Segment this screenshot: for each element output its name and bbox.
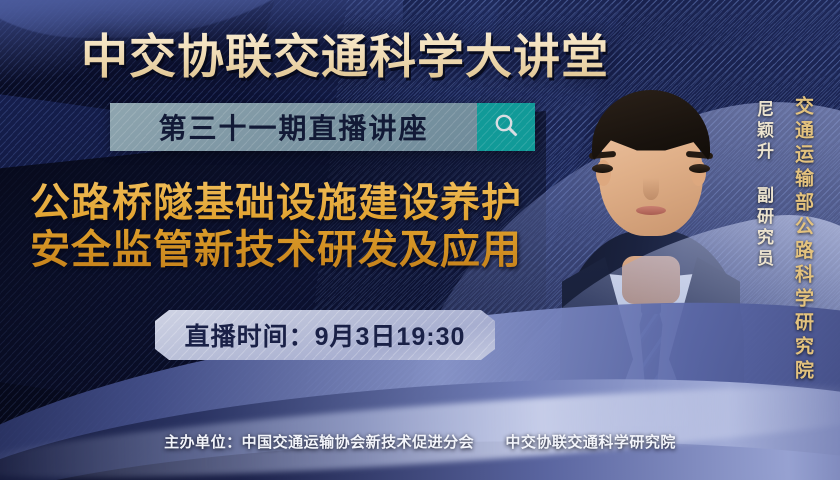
episode-label-field: 第三十一期直播讲座 [110, 103, 477, 151]
live-time-badge: 直播时间：9月3日19:30 [155, 310, 495, 360]
speaker-eye-left [592, 164, 613, 173]
live-time-text: 直播时间：9月3日19:30 [185, 317, 466, 353]
footer-co-organizer: 中交协联交通科学研究院 [505, 434, 676, 451]
footer-organizer: 主办单位：中国交通运输协会新技术促进分会 [164, 434, 474, 451]
lecture-subject-line-1: 公路桥隧基础设施建设养护 [30, 180, 590, 227]
lecture-subject-line-2: 安全监管新技术研发及应用 [30, 227, 590, 274]
speaker-nose [643, 178, 659, 200]
episode-label: 第三十一期直播讲座 [158, 107, 428, 147]
footer-organizers: 主办单位：中国交通运输协会新技术促进分会 中交协联交通科学研究院 [0, 431, 840, 452]
page-title: 中交协联交通科学大讲堂 [0, 18, 840, 87]
lecture-subject: 公路桥隧基础设施建设养护 安全监管新技术研发及应用 [30, 180, 590, 274]
live-lecture-poster: 中交协联交通科学大讲堂 第三十一期直播讲座 公路桥隧基础设施建设养护 安全监管新… [0, 0, 840, 480]
speaker-eye-right [689, 164, 710, 173]
speaker-mouth [636, 206, 666, 215]
search-icon [493, 112, 519, 143]
episode-search-bar[interactable]: 第三十一期直播讲座 [110, 103, 535, 151]
speaker-name-title: 尼颖升 副研究员 [751, 100, 776, 270]
search-button[interactable] [477, 103, 535, 151]
speaker-organization: 交通运输部公路科学研究院 [789, 96, 816, 384]
